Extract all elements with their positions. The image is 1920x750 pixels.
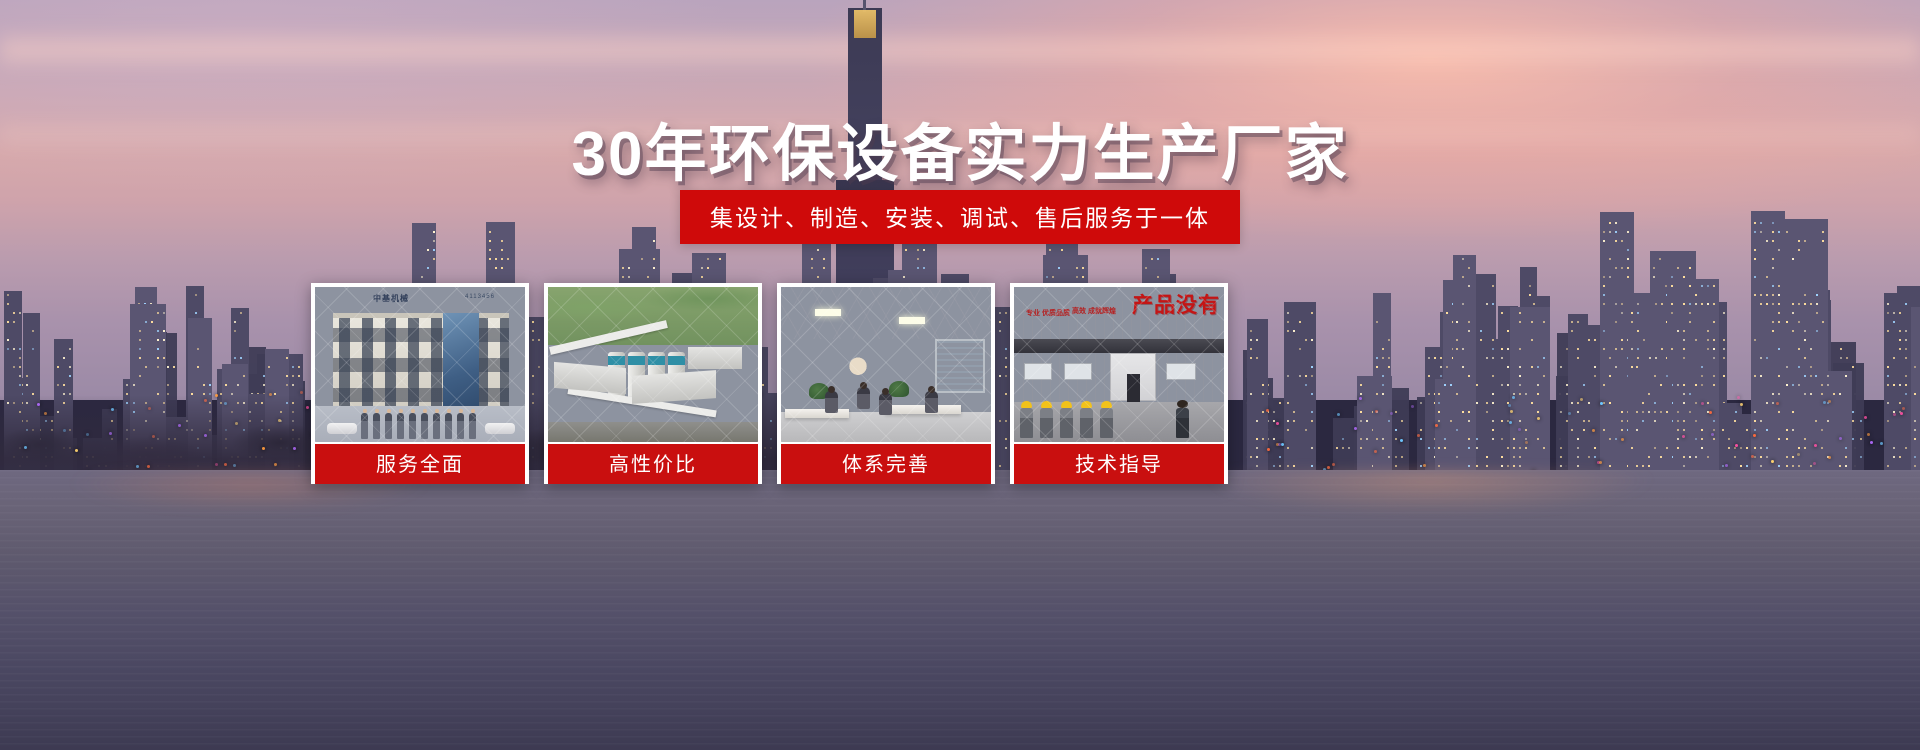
- staff-person: [385, 413, 392, 439]
- plant-shed: [688, 347, 742, 369]
- page-title: 30年环保设备实力生产厂家: [0, 103, 1920, 193]
- factory-door: [1110, 353, 1156, 401]
- building-phone-number: 4113456: [465, 294, 495, 300]
- feature-card-list: 中基机械 4113456 服务全面: [311, 283, 1228, 484]
- staff-person: [445, 413, 452, 439]
- plant-access-road: [548, 422, 758, 442]
- factory-window: [1064, 363, 1092, 380]
- factory-worker: [1100, 408, 1113, 438]
- office-desk: [785, 409, 849, 418]
- feature-card[interactable]: 产品没有 专业 优质品质 高效 成就辉煌: [1010, 283, 1228, 484]
- banner-content: 30年环保设备实力生产厂家 集设计、制造、安装、调试、售后服务于一体 中基机械 …: [0, 0, 1920, 750]
- office-employee: [879, 393, 892, 415]
- office-ceiling: [781, 287, 991, 339]
- card-caption: 技术指导: [1014, 442, 1224, 484]
- staff-person: [397, 413, 404, 439]
- parked-car: [485, 423, 515, 434]
- staff-person: [361, 413, 368, 439]
- card-photo: [781, 287, 991, 442]
- staff-person: [433, 413, 440, 439]
- ceiling-light: [815, 309, 841, 316]
- potted-plant: [889, 381, 909, 397]
- office-desk: [885, 405, 961, 414]
- card-caption: 体系完善: [781, 442, 991, 484]
- factory-banner-text: 产品没有: [1132, 289, 1220, 319]
- office-employee: [825, 391, 838, 413]
- building-glass-facade: [443, 313, 479, 413]
- staff-person: [457, 413, 464, 439]
- wall-logo: [841, 353, 875, 377]
- feature-card[interactable]: 体系完善: [777, 283, 995, 484]
- factory-worker: [1020, 408, 1033, 438]
- factory-worker: [1080, 408, 1093, 438]
- office-employee: [857, 387, 870, 409]
- office-window: [935, 339, 985, 393]
- card-caption: 高性价比: [548, 442, 758, 484]
- factory-window-strip: [1014, 339, 1224, 353]
- plant-shed: [554, 362, 626, 394]
- feature-card[interactable]: 高性价比: [544, 283, 762, 484]
- building-company-sign: 中基机械: [373, 293, 409, 304]
- card-photo: [548, 287, 758, 442]
- factory-window: [1024, 363, 1052, 380]
- staff-person: [469, 413, 476, 439]
- silo-band: [628, 356, 645, 365]
- silo-band: [668, 356, 685, 365]
- silo-band: [648, 356, 665, 365]
- office-building-shape: [333, 313, 509, 413]
- card-photo: 产品没有 专业 优质品质 高效 成就辉煌: [1014, 287, 1224, 442]
- factory-supervisor: [1176, 408, 1189, 438]
- ceiling-light: [899, 317, 925, 324]
- factory-slogan-right: 高效 成就辉煌: [1072, 307, 1116, 318]
- staff-person: [373, 413, 380, 439]
- feature-card[interactable]: 中基机械 4113456 服务全面: [311, 283, 529, 484]
- building-windows: [333, 318, 509, 413]
- factory-worker: [1060, 408, 1073, 438]
- subtitle-bar: 集设计、制造、安装、调试、售后服务于一体: [680, 190, 1240, 244]
- factory-slogan-left: 专业 优质品质: [1026, 309, 1070, 320]
- staff-person: [421, 413, 428, 439]
- hero-banner: 30年环保设备实力生产厂家 集设计、制造、安装、调试、售后服务于一体 中基机械 …: [0, 0, 1920, 750]
- plant-shed: [632, 370, 716, 404]
- aerial-green-field: [548, 287, 758, 345]
- card-caption: 服务全面: [315, 442, 525, 484]
- staff-person: [409, 413, 416, 439]
- factory-worker: [1040, 408, 1053, 438]
- card-photo: 中基机械 4113456: [315, 287, 525, 442]
- silo-band: [608, 356, 625, 365]
- parked-car: [327, 423, 357, 434]
- factory-window: [1166, 363, 1196, 380]
- office-employee: [925, 391, 938, 413]
